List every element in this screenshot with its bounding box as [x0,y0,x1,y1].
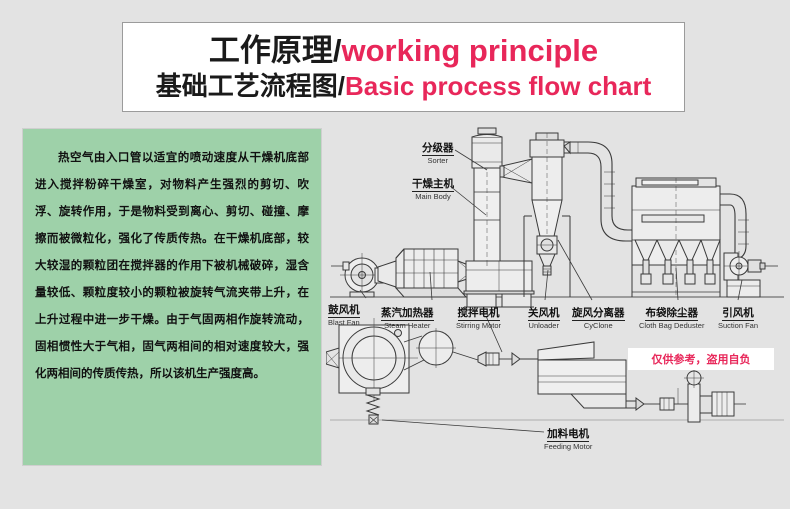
label-suction-fan-en: Suction Fan [718,322,758,330]
steam-heater-graphic [396,249,476,297]
blast-fan-graphic [331,253,396,297]
label-sorter: 分级器 Sorter [422,139,454,165]
label-cyclone: 旋风分离器 CyClone [572,304,625,330]
diagram-svg [326,120,788,470]
label-blast-fan: 鼓风机 Blast Fan [328,301,360,327]
title-banner: 工作原理/working principle 基础工艺流程图/Basic pro… [122,22,685,112]
label-bag-deduster-cn: 布袋除尘器 [645,308,698,321]
label-suction-fan: 引风机 Suction Fan [718,304,758,330]
title-secondary-separator: / [338,71,345,101]
label-main-body: 干燥主机 Main Body [412,175,454,201]
screenshot-root: 工作原理/working principle 基础工艺流程图/Basic pro… [0,0,790,509]
label-steam-heater-en: Steam Heater [381,322,434,330]
label-feeding-motor-cn: 加料电机 [547,429,589,442]
suction-fan-graphic [724,251,778,297]
label-unloader: 关风机 Unloader [528,304,560,330]
label-suction-fan-cn: 引风机 [722,308,754,321]
title-line-secondary: 基础工艺流程图/Basic process flow chart [156,73,652,99]
label-stirring-motor: 搅拌电机 Stirring Motor [456,304,501,330]
label-bag-deduster: 布袋除尘器 Cloth Bag Deduster [639,304,704,330]
label-steam-heater-cn: 蒸汽加热器 [381,308,434,321]
process-flow-diagram: 分级器 Sorter 干燥主机 Main Body 鼓风机 Blast Fan … [326,120,788,470]
title-primary-en: working principle [341,33,598,68]
label-blast-fan-cn: 鼓风机 [328,305,360,318]
title-line-primary: 工作原理/working principle [209,35,598,66]
label-main-body-en: Main Body [412,193,454,201]
label-stirring-motor-cn: 搅拌电机 [458,308,500,321]
label-sorter-en: Sorter [422,157,454,165]
label-feeding-motor: 加料电机 Feeding Motor [544,425,592,451]
title-secondary-en: Basic process flow chart [345,71,651,101]
description-text: 热空气由入口管以适宜的喷动速度从干燥机底部进入搅拌粉碎干燥室，对物料产生强烈的剪… [35,145,309,388]
label-main-body-cn: 干燥主机 [412,179,454,192]
label-unloader-cn: 关风机 [528,308,560,321]
label-cyclone-cn: 旋风分离器 [572,308,625,321]
label-feeding-motor-en: Feeding Motor [544,443,592,451]
description-panel: 热空气由入口管以适宜的喷动速度从干燥机底部进入搅拌粉碎干燥室，对物料产生强烈的剪… [22,128,322,466]
title-primary-cn: 工作原理 [209,33,333,68]
label-sorter-cn: 分级器 [422,143,454,156]
label-steam-heater: 蒸汽加热器 Steam Heater [381,304,434,330]
feeding-section-graphic [326,318,538,424]
disclaimer-banner: 仅供参考，盗用自负 [628,348,774,370]
label-bag-deduster-en: Cloth Bag Deduster [639,322,704,330]
label-unloader-en: Unloader [528,322,560,330]
cyclone-graphic [524,133,644,297]
unloader-graphic [537,236,557,275]
label-cyclone-en: CyClone [572,322,625,330]
title-secondary-cn: 基础工艺流程图 [156,71,338,101]
label-blast-fan-en: Blast Fan [328,319,360,327]
disclaimer-text: 仅供参考，盗用自负 [652,351,751,367]
label-stirring-motor-en: Stirring Motor [456,322,501,330]
